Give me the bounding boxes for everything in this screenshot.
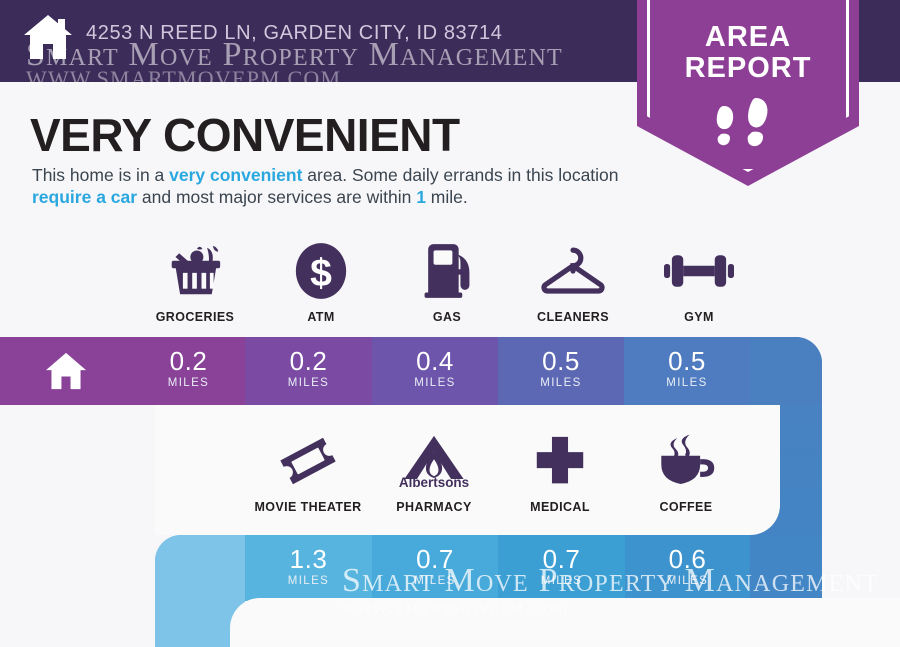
summary-description: This home is in a very convenient area. … [32,164,638,208]
distance-value: 0.2 [132,346,245,377]
distance-bar-row-2: 1.3 MILES 0.7 MILES 0.7 MILES 0.6 MILES [155,535,822,601]
badge-line-2: REPORT [637,53,859,84]
amenity-label: GAS [384,310,510,324]
amenity-atm: $ ATM [258,240,384,324]
amenity-gas: GAS [384,240,510,324]
home-marker-segment [0,337,132,405]
amenity-label: MEDICAL [497,500,623,514]
distance-unit: MILES [625,575,750,587]
distance-unit: MILES [372,377,498,389]
distance-unit: MILES [498,377,624,389]
amenity-label: CLEANERS [510,310,636,324]
home-icon [22,13,74,61]
amenity-icon-row-1: GROCERIES $ ATM [132,240,762,324]
distance-segment-gas: 0.4 MILES [372,337,498,405]
amenity-label: GROCERIES [132,310,258,324]
distance-value: 0.7 [498,544,625,575]
distance-value: 0.5 [498,346,624,377]
distance-segment-gym: 0.5 MILES [624,337,750,405]
distance-value: 0.4 [372,346,498,377]
medical-cross-icon [497,430,623,492]
ribbon-tail-1 [750,337,822,405]
distance-value: 0.5 [624,346,750,377]
distance-bar-row-1: 0.2 MILES 0.2 MILES 0.4 MILES 0.5 MILES … [0,337,822,405]
coffee-cup-icon [623,430,749,492]
distance-value: 1.3 [245,544,372,575]
amenity-label: GYM [636,310,762,324]
content-panel-bottom [230,598,900,647]
albertsons-logo-icon: Albertsons [371,430,497,492]
distance-segment-groceries: 0.2 MILES [132,337,245,405]
summary-highlight-2: require a car [32,187,137,207]
movie-ticket-icon [245,430,371,492]
amenity-label: PHARMACY [371,500,497,514]
dollar-circle-icon: $ [258,240,384,302]
amenity-medical: MEDICAL [497,430,623,514]
summary-text-1: This home is in a [32,165,169,185]
amenity-label: MOVIE THEATER [245,500,371,514]
hanger-icon [510,240,636,302]
amenity-movie-theater: MOVIE THEATER [245,430,371,514]
distance-unit: MILES [372,575,498,587]
amenity-label: COFFEE [623,500,749,514]
summary-highlight-1: very convenient [169,165,302,185]
distance-value: 0.6 [625,544,750,575]
grocery-basket-icon [132,240,258,302]
distance-unit: MILES [498,575,625,587]
area-report-infographic: 4253 N REED LN, GARDEN CITY, ID 83714 Sm… [0,0,900,647]
distance-unit: MILES [624,377,750,389]
amenity-pharmacy: Albertsons PHARMACY [371,430,497,514]
summary-text-2: area. Some daily errands in this locatio… [302,165,618,185]
distance-unit: MILES [245,575,372,587]
dumbbell-icon [636,240,762,302]
distance-unit: MILES [132,377,245,389]
footprints-icon [712,96,784,152]
page-title: VERY CONVENIENT [30,108,460,162]
distance-segment-medical: 0.7 MILES [498,535,625,601]
amenity-cleaners: CLEANERS [510,240,636,324]
distance-segment-cleaners: 0.5 MILES [498,337,624,405]
home-icon [44,351,88,391]
svg-text:$: $ [310,252,332,295]
badge-line-1: AREA [637,22,859,53]
distance-value: 0.7 [372,544,498,575]
amenity-gym: GYM [636,240,762,324]
amenity-groceries: GROCERIES [132,240,258,324]
amenity-coffee: COFFEE [623,430,749,514]
svg-text:Albertsons: Albertsons [399,475,469,488]
ribbon-head-2 [155,535,245,601]
gas-pump-icon [384,240,510,302]
badge-text: AREA REPORT [637,22,859,84]
summary-text-3: and most major services are within [137,187,416,207]
summary-text-4: mile. [426,187,468,207]
ribbon-tail-2 [750,535,822,601]
property-address: 4253 N REED LN, GARDEN CITY, ID 83714 [86,22,502,45]
distance-segment-atm: 0.2 MILES [245,337,372,405]
summary-highlight-3: 1 [416,187,426,207]
amenity-label: ATM [258,310,384,324]
distance-segment-pharmacy: 0.7 MILES [372,535,498,601]
distance-segment-coffee: 0.6 MILES [625,535,750,601]
distance-unit: MILES [245,377,372,389]
amenity-icon-row-2: MOVIE THEATER Albertsons PHARMACY [245,430,749,514]
distance-value: 0.2 [245,346,372,377]
distance-segment-movie-theater: 1.3 MILES [245,535,372,601]
